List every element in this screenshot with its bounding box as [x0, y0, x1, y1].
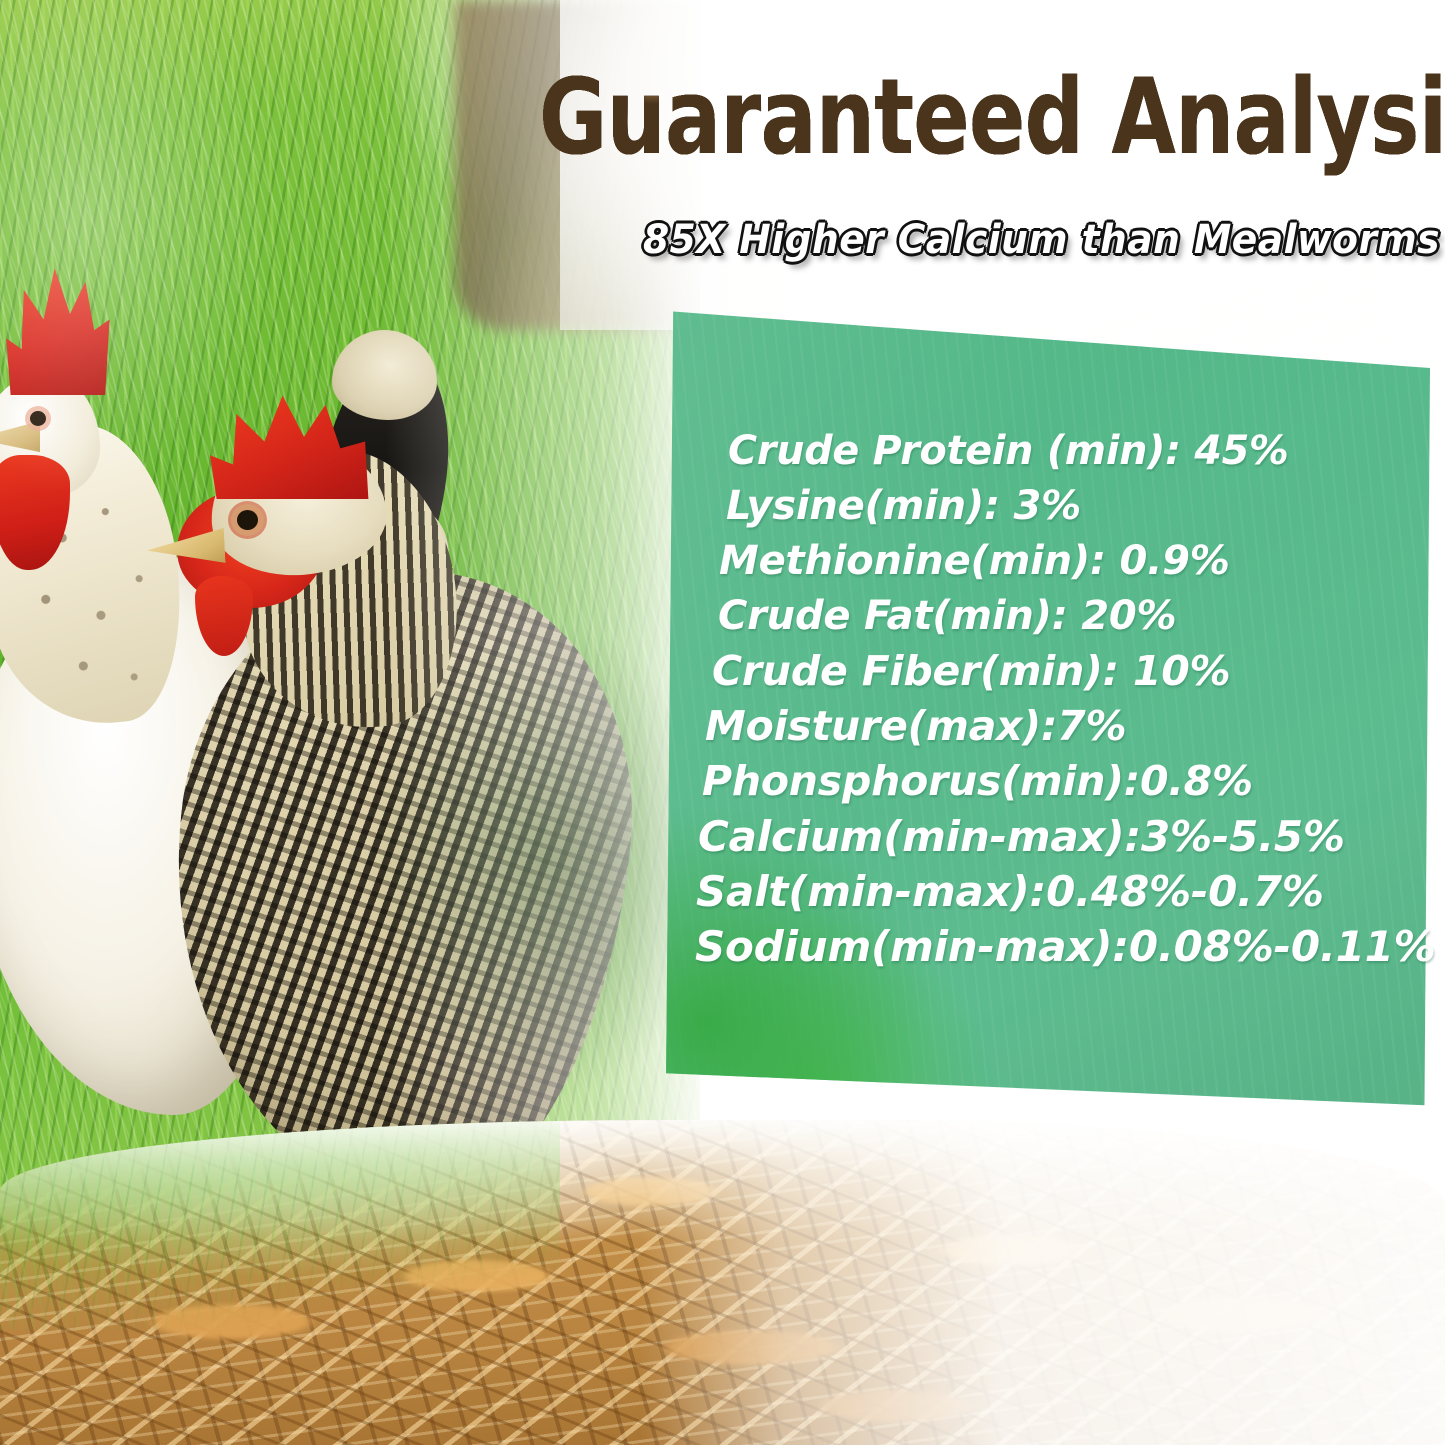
list-item: Sodium(min-max):0.08%-0.11%	[695, 919, 1416, 974]
list-item: Crude Protein (min): 45%	[728, 424, 1409, 479]
list-item: Methionine(min): 0.9%	[719, 534, 1416, 589]
page-title-text: Guaranteed Analysis	[539, 58, 1445, 176]
nutrition-list: Crude Protein (min): 45% Lysine(min): 3%…	[696, 424, 1416, 974]
list-item: Salt(min-max):0.48%-0.7%	[696, 864, 1416, 919]
page-subtitle: 85X Higher Calcium than Mealworms	[368, 216, 1440, 264]
list-item: Crude Fat(min): 20%	[718, 589, 1416, 644]
list-item: Phonsphorus(min):0.8%	[702, 754, 1416, 809]
product-infographic: Guaranteed Analysis Guaranteed Analysis …	[0, 0, 1445, 1445]
page-title: Guaranteed Analysis Guaranteed Analysis	[300, 58, 1440, 183]
list-item: Crude Fiber(min): 10%	[712, 644, 1416, 699]
list-item: Moisture(max):7%	[705, 699, 1416, 754]
list-item: Calcium(min-max):3%-5.5%	[698, 809, 1416, 864]
list-item: Lysine(min): 3%	[726, 479, 1416, 534]
